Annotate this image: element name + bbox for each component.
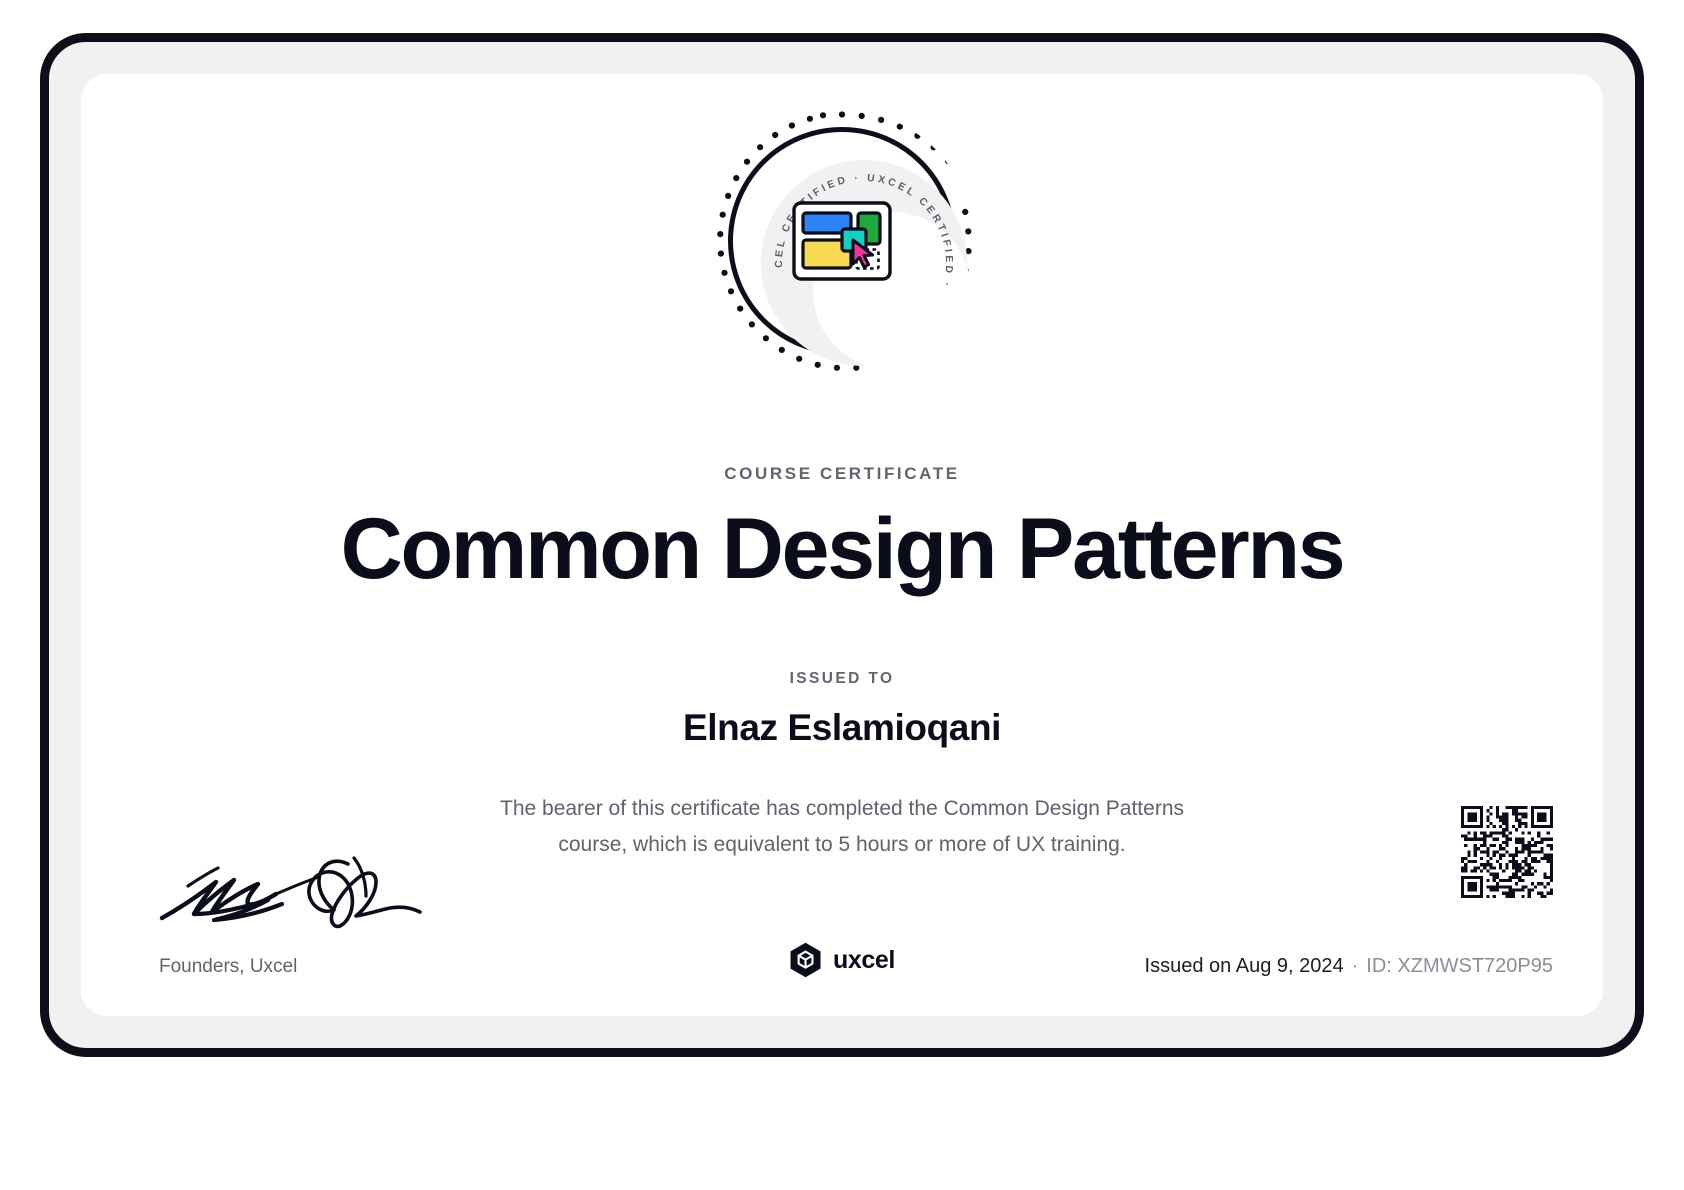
uxcel-brand: uxcel [789,942,895,978]
certificate-meta: Issued on Aug 9, 2024·ID: XZMWST720P95 [1145,955,1553,978]
certificate-frame: UXCEL CERTIFIED · UXCEL CERTIFIED · COUR… [40,33,1644,1057]
certificate-card: UXCEL CERTIFIED · UXCEL CERTIFIED · COUR… [81,74,1603,1016]
certificate-id: ID: XZMWST720P95 [1366,955,1553,977]
uxcel-certified-badge: UXCEL CERTIFIED · UXCEL CERTIFIED · [711,110,973,372]
issued-date: Issued on Aug 9, 2024 [1145,955,1344,977]
eyebrow-label: COURSE CERTIFICATE [81,464,1603,484]
description-line-1: The bearer of this certificate has compl… [427,791,1257,827]
certificate-qr-code[interactable] [1461,806,1553,898]
founder-signatures [158,856,448,934]
certificate-description: The bearer of this certificate has compl… [427,791,1257,863]
meta-separator: · [1344,955,1367,977]
uxcel-hexagon-cube-logo-icon [789,942,822,978]
recipient-name: Elnaz Eslamioqani [81,707,1603,749]
description-line-2: course, which is equivalent to 5 hours o… [427,827,1257,863]
founders-label: Founders, Uxcel [159,956,297,978]
design-patterns-icon [792,201,892,281]
uxcel-brand-name: uxcel [833,946,895,975]
page-title: Common Design Patterns [81,499,1603,600]
issued-to-label: ISSUED TO [81,670,1603,688]
